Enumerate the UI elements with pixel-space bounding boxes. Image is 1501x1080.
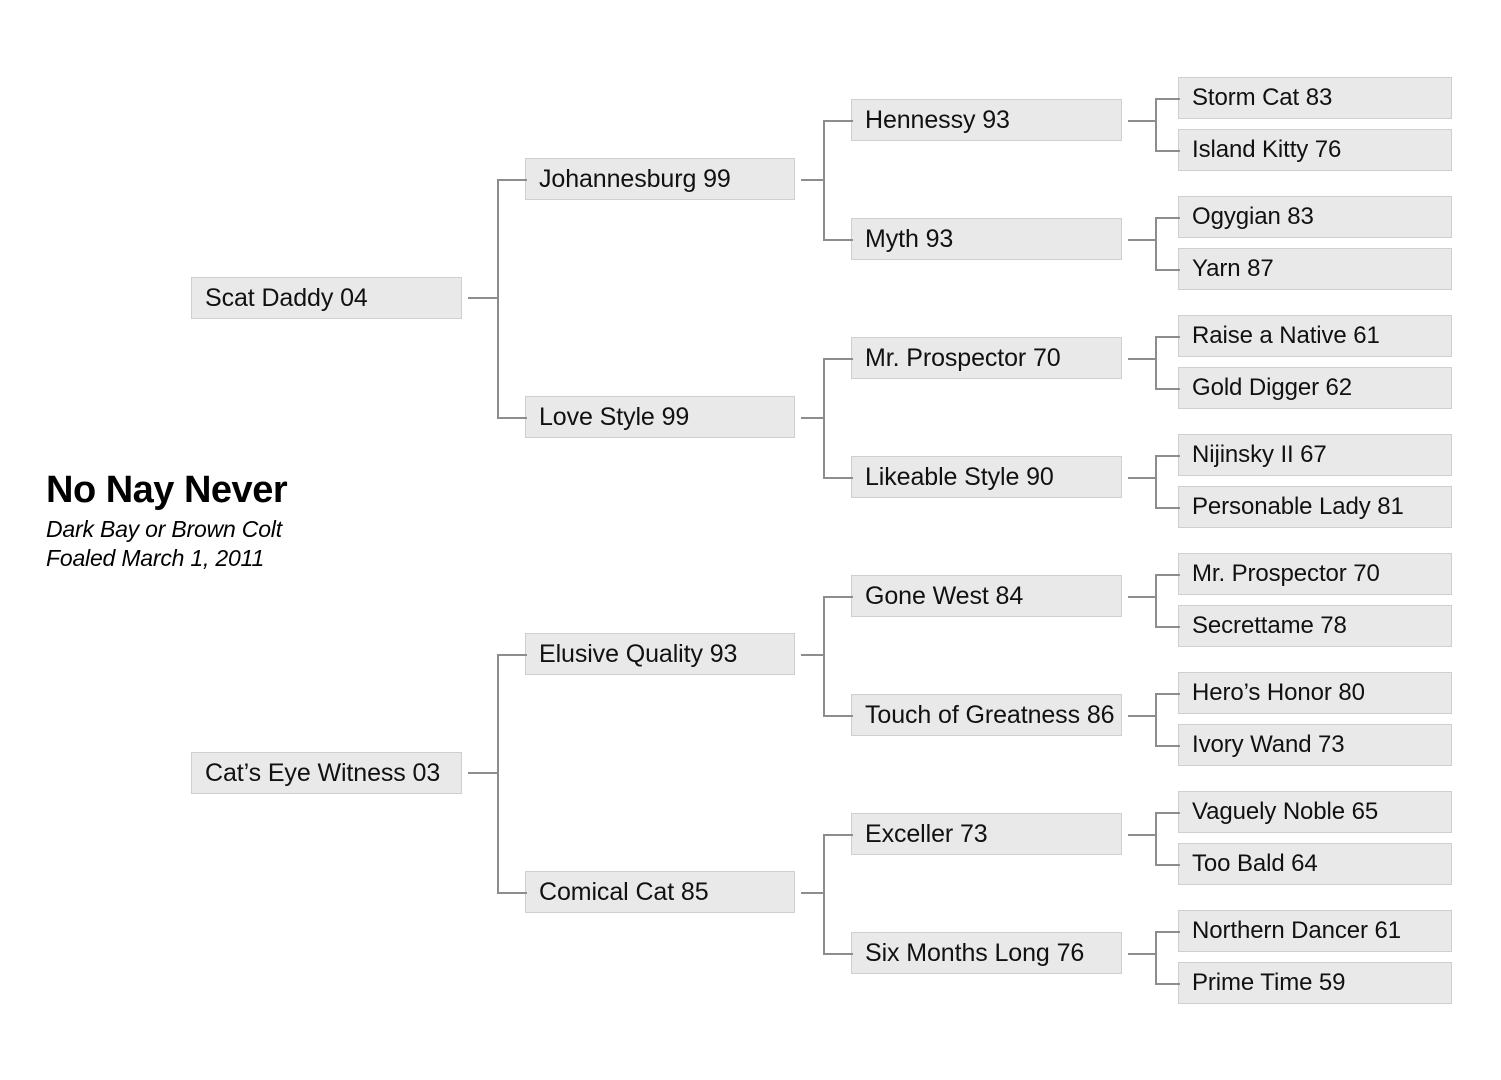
connector-gen3-2-spine — [1155, 336, 1157, 388]
pedigree-node-gen4-1[interactable]: Island Kitty 76 — [1178, 129, 1452, 171]
connector-gen3-4-branch-1 — [1155, 626, 1180, 628]
connector-gen2-2-spine — [823, 596, 825, 715]
connector-gen2-3-branch-0 — [823, 834, 853, 836]
connector-gen3-3-stem — [1128, 477, 1157, 479]
connector-gen3-1-branch-0 — [1155, 217, 1180, 219]
node-label: Nijinsky II 67 — [1192, 441, 1327, 469]
pedigree-node-gen2-2[interactable]: Elusive Quality 93 — [525, 633, 795, 675]
connector-gen3-0-spine — [1155, 98, 1157, 150]
connector-gen1-0-branch-0 — [497, 179, 527, 181]
pedigree-node-gen4-8[interactable]: Mr. Prospector 70 — [1178, 553, 1452, 595]
connector-gen3-2-branch-1 — [1155, 388, 1180, 390]
pedigree-node-gen4-2[interactable]: Ogygian 83 — [1178, 196, 1452, 238]
node-label: Too Bald 64 — [1192, 850, 1318, 878]
pedigree-node-gen4-4[interactable]: Raise a Native 61 — [1178, 315, 1452, 357]
node-label: Secrettame 78 — [1192, 612, 1347, 640]
node-label: Northern Dancer 61 — [1192, 917, 1401, 945]
connector-gen3-7-stem — [1128, 953, 1157, 955]
connector-gen3-4-stem — [1128, 596, 1157, 598]
node-label: Cat’s Eye Witness 03 — [205, 759, 440, 788]
node-label: Comical Cat 85 — [539, 878, 709, 907]
node-label: Elusive Quality 93 — [539, 640, 737, 669]
pedigree-node-gen3-4[interactable]: Gone West 84 — [851, 575, 1122, 617]
pedigree-node-gen4-14[interactable]: Northern Dancer 61 — [1178, 910, 1452, 952]
node-label: Hennessy 93 — [865, 106, 1010, 135]
connector-gen2-0-stem — [801, 179, 825, 181]
connector-gen2-1-stem — [801, 417, 825, 419]
pedigree-node-gen3-0[interactable]: Hennessy 93 — [851, 99, 1122, 141]
pedigree-node-gen4-7[interactable]: Personable Lady 81 — [1178, 486, 1452, 528]
connector-gen3-1-stem — [1128, 239, 1157, 241]
connector-gen3-3-spine — [1155, 455, 1157, 507]
subject-description: Dark Bay or Brown Colt — [46, 515, 466, 544]
node-label: Mr. Prospector 70 — [865, 344, 1061, 373]
connector-gen3-7-branch-1 — [1155, 983, 1180, 985]
pedigree-node-gen3-5[interactable]: Touch of Greatness 86 — [851, 694, 1122, 736]
connector-gen3-6-branch-0 — [1155, 812, 1180, 814]
connector-gen3-5-spine — [1155, 693, 1157, 745]
subject-foaled-date: Foaled March 1, 2011 — [46, 544, 466, 573]
node-label: Scat Daddy 04 — [205, 284, 368, 313]
connector-gen3-5-branch-0 — [1155, 693, 1180, 695]
pedigree-node-gen3-6[interactable]: Exceller 73 — [851, 813, 1122, 855]
pedigree-node-gen4-9[interactable]: Secrettame 78 — [1178, 605, 1452, 647]
node-label: Vaguely Noble 65 — [1192, 798, 1378, 826]
pedigree-node-gen2-1[interactable]: Love Style 99 — [525, 396, 795, 438]
connector-gen1-1-branch-0 — [497, 654, 527, 656]
connector-gen1-1-branch-1 — [497, 892, 527, 894]
node-label: Gold Digger 62 — [1192, 374, 1352, 402]
connector-gen3-6-stem — [1128, 834, 1157, 836]
connector-gen1-0-stem — [468, 297, 499, 299]
connector-gen1-1-spine — [497, 654, 499, 892]
pedigree-node-gen4-11[interactable]: Ivory Wand 73 — [1178, 724, 1452, 766]
connector-gen2-0-branch-1 — [823, 239, 853, 241]
pedigree-node-gen4-5[interactable]: Gold Digger 62 — [1178, 367, 1452, 409]
connector-gen1-1-stem — [468, 772, 499, 774]
connector-gen2-2-branch-0 — [823, 596, 853, 598]
connector-gen3-0-branch-1 — [1155, 150, 1180, 152]
connector-gen2-2-branch-1 — [823, 715, 853, 717]
node-label: Storm Cat 83 — [1192, 84, 1332, 112]
connector-gen3-6-branch-1 — [1155, 864, 1180, 866]
pedigree-chart: No Nay Never Dark Bay or Brown Colt Foal… — [0, 0, 1501, 1080]
connector-gen3-6-spine — [1155, 812, 1157, 864]
pedigree-node-gen1-1[interactable]: Cat’s Eye Witness 03 — [191, 752, 462, 794]
pedigree-node-gen4-15[interactable]: Prime Time 59 — [1178, 962, 1452, 1004]
pedigree-node-gen4-6[interactable]: Nijinsky II 67 — [1178, 434, 1452, 476]
node-label: Mr. Prospector 70 — [1192, 560, 1380, 588]
connector-gen3-1-branch-1 — [1155, 269, 1180, 271]
connector-gen2-3-spine — [823, 834, 825, 953]
connector-gen3-4-spine — [1155, 574, 1157, 626]
node-label: Island Kitty 76 — [1192, 136, 1341, 164]
pedigree-node-gen2-3[interactable]: Comical Cat 85 — [525, 871, 795, 913]
connector-gen3-7-spine — [1155, 931, 1157, 983]
connector-gen1-0-branch-1 — [497, 417, 527, 419]
node-label: Prime Time 59 — [1192, 969, 1345, 997]
connector-gen3-5-branch-1 — [1155, 745, 1180, 747]
connector-gen1-0-spine — [497, 179, 499, 417]
subject-title-block: No Nay Never Dark Bay or Brown Colt Foal… — [46, 470, 466, 572]
connector-gen3-5-stem — [1128, 715, 1157, 717]
connector-gen3-3-branch-1 — [1155, 507, 1180, 509]
pedigree-node-gen3-7[interactable]: Six Months Long 76 — [851, 932, 1122, 974]
node-label: Love Style 99 — [539, 403, 689, 432]
connector-gen2-2-stem — [801, 654, 825, 656]
pedigree-node-gen4-0[interactable]: Storm Cat 83 — [1178, 77, 1452, 119]
connector-gen2-1-branch-0 — [823, 358, 853, 360]
connector-gen3-3-branch-0 — [1155, 455, 1180, 457]
pedigree-node-gen3-2[interactable]: Mr. Prospector 70 — [851, 337, 1122, 379]
node-label: Yarn 87 — [1192, 255, 1274, 283]
connector-gen3-0-branch-0 — [1155, 98, 1180, 100]
pedigree-node-gen2-0[interactable]: Johannesburg 99 — [525, 158, 795, 200]
node-label: Personable Lady 81 — [1192, 493, 1404, 521]
connector-gen2-1-branch-1 — [823, 477, 853, 479]
node-label: Ivory Wand 73 — [1192, 731, 1345, 759]
pedigree-node-gen4-10[interactable]: Hero’s Honor 80 — [1178, 672, 1452, 714]
node-label: Myth 93 — [865, 225, 953, 254]
pedigree-node-gen4-12[interactable]: Vaguely Noble 65 — [1178, 791, 1452, 833]
pedigree-node-gen1-0[interactable]: Scat Daddy 04 — [191, 277, 462, 319]
connector-gen3-2-branch-0 — [1155, 336, 1180, 338]
connector-gen2-1-spine — [823, 358, 825, 477]
pedigree-node-gen3-1[interactable]: Myth 93 — [851, 218, 1122, 260]
node-label: Six Months Long 76 — [865, 939, 1084, 968]
node-label: Raise a Native 61 — [1192, 322, 1380, 350]
pedigree-node-gen4-13[interactable]: Too Bald 64 — [1178, 843, 1452, 885]
node-label: Touch of Greatness 86 — [865, 701, 1114, 730]
pedigree-node-gen4-3[interactable]: Yarn 87 — [1178, 248, 1452, 290]
connector-gen3-2-stem — [1128, 358, 1157, 360]
connector-gen3-4-branch-0 — [1155, 574, 1180, 576]
node-label: Exceller 73 — [865, 820, 988, 849]
node-label: Gone West 84 — [865, 582, 1023, 611]
connector-gen2-3-stem — [801, 892, 825, 894]
node-label: Ogygian 83 — [1192, 203, 1314, 231]
connector-gen3-1-spine — [1155, 217, 1157, 269]
connector-gen2-0-branch-0 — [823, 120, 853, 122]
connector-gen2-0-spine — [823, 120, 825, 239]
node-label: Hero’s Honor 80 — [1192, 679, 1365, 707]
connector-gen3-7-branch-0 — [1155, 931, 1180, 933]
connector-gen2-3-branch-1 — [823, 953, 853, 955]
connector-gen3-0-stem — [1128, 120, 1157, 122]
page-title: No Nay Never — [46, 470, 466, 511]
node-label: Likeable Style 90 — [865, 463, 1054, 492]
pedigree-node-gen3-3[interactable]: Likeable Style 90 — [851, 456, 1122, 498]
node-label: Johannesburg 99 — [539, 165, 731, 194]
